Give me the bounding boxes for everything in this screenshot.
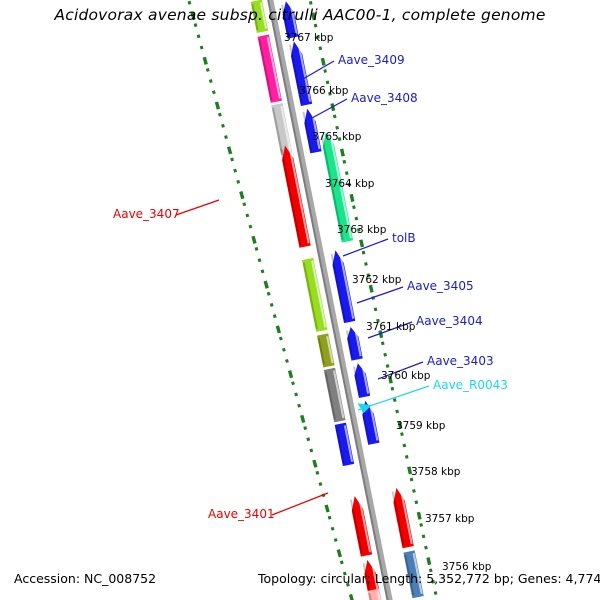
- scale-tick: [416, 501, 417, 504]
- scale-tick: [256, 247, 257, 250]
- scale-tick: [397, 410, 398, 413]
- ruler-tick-label: 3766 kbp: [299, 85, 348, 97]
- scale-tick: [404, 444, 405, 447]
- scale-tick: [223, 124, 224, 127]
- ruler-tick-label: 3760 kbp: [381, 370, 430, 382]
- scale-tick: [247, 214, 248, 217]
- scale-tick: [241, 192, 243, 199]
- genome-map-viewer: Acidovorax avenae subsp. citrulli AAC00-…: [0, 0, 600, 600]
- scale-tick: [229, 147, 231, 154]
- scale-tick: [327, 81, 328, 84]
- scale-tick: [210, 80, 211, 83]
- scale-tick: [326, 505, 328, 512]
- scale-tick: [366, 262, 367, 265]
- ruler-tick-label: 3759 kbp: [396, 420, 445, 432]
- scale-tick: [189, 1, 190, 4]
- ruler-tick-label: 3765 kbp: [312, 131, 361, 143]
- genome-summary-text: Topology: circular; Length: 5,352,772 bp…: [258, 571, 600, 586]
- scale-tick: [363, 251, 364, 254]
- scale-tick: [204, 57, 206, 64]
- scale-tick: [385, 353, 386, 356]
- scale-tick: [406, 455, 407, 458]
- scale-tick: [382, 342, 383, 345]
- scale-tick: [277, 326, 279, 333]
- scale-tick: [213, 91, 214, 94]
- scale-tick: [305, 427, 306, 430]
- scale-tick: [418, 512, 420, 519]
- scale-tick: [351, 594, 353, 600]
- scale-tick: [320, 483, 321, 486]
- scale-tick: [287, 359, 288, 362]
- ruler-tick-label: 3763 kbp: [337, 224, 386, 236]
- scale-tick: [253, 236, 255, 243]
- scale-tick: [265, 281, 267, 288]
- scale-tick: [284, 348, 285, 351]
- scale-tick: [217, 102, 219, 109]
- scale-tick: [320, 47, 321, 50]
- scale-tick: [423, 535, 424, 538]
- leader-line-Aave_3408: [312, 99, 347, 118]
- scale-tick: [244, 203, 245, 206]
- scale-tick: [290, 371, 292, 378]
- gene-g-l8[interactable]: [354, 363, 370, 398]
- ruler-tick-label: 3767 kbp: [284, 32, 333, 44]
- ruler-tick-label: 3758 kbp: [411, 466, 460, 478]
- scale-tick: [435, 592, 436, 595]
- scale-tick: [271, 303, 272, 306]
- scale-tick: [317, 471, 318, 474]
- gene-label-Aave_3404[interactable]: Aave_3404: [416, 314, 483, 328]
- gene-g-l7[interactable]: [347, 327, 363, 361]
- ruler-tick-label: 3757 kbp: [425, 513, 474, 525]
- scale-tick: [361, 240, 363, 247]
- scale-tick: [299, 404, 300, 407]
- scale-tick: [329, 516, 330, 519]
- scale-tick: [280, 337, 281, 340]
- gene-label-Aave_3409[interactable]: Aave_3409: [338, 53, 405, 67]
- scale-tick: [351, 194, 353, 201]
- scale-tick: [296, 393, 297, 396]
- gene-label-Aave_3407[interactable]: Aave_3407: [113, 207, 180, 221]
- ruler-tick-label: 3762 kbp: [352, 274, 401, 286]
- scale-tick: [201, 46, 202, 49]
- leader-line-Aave_3405: [357, 287, 403, 303]
- gene-label-Aave_3401[interactable]: Aave_3401: [208, 507, 275, 521]
- scale-tick: [402, 433, 403, 436]
- gene-g-l10[interactable]: [393, 488, 414, 548]
- scale-tick: [335, 539, 336, 542]
- scale-tick: [226, 136, 227, 139]
- scale-tick: [220, 113, 221, 116]
- scale-tick: [354, 206, 355, 209]
- ruler-tick-label: 3764 kbp: [325, 178, 374, 190]
- gene-label-tolB[interactable]: tolB: [392, 231, 416, 245]
- scale-tick: [334, 115, 335, 118]
- scale-tick: [293, 382, 294, 385]
- scale-tick: [268, 292, 269, 295]
- scale-tick: [207, 68, 208, 71]
- scale-tick: [411, 478, 412, 481]
- gene-label-Aave_3408[interactable]: Aave_3408: [351, 91, 418, 105]
- leader-line-Aave_3401: [272, 493, 328, 515]
- scale-tick: [238, 180, 239, 183]
- ruler-tick-label: 3761 kbp: [366, 321, 415, 333]
- scale-tick: [259, 259, 260, 262]
- accession-text: Accession: NC_008752: [14, 571, 156, 586]
- scale-tick: [344, 160, 345, 163]
- scale-tick: [342, 149, 344, 156]
- scale-tick: [370, 285, 372, 292]
- scale-tick: [332, 527, 333, 530]
- scale-tick: [262, 270, 263, 273]
- gene-track-left: [272, 0, 430, 600]
- scale-tick: [198, 35, 199, 38]
- scale-tick: [414, 489, 415, 492]
- leader-line-tolB: [343, 239, 388, 256]
- scale-tick: [428, 558, 430, 565]
- scale-tick: [250, 225, 251, 228]
- scale-tick: [356, 217, 357, 220]
- scale-tick: [341, 561, 342, 564]
- gene-label-Aave_3403[interactable]: Aave_3403: [427, 354, 494, 368]
- scale-tick: [195, 24, 196, 27]
- scale-tick: [338, 550, 340, 557]
- gene-label-Aave_R0043[interactable]: Aave_R0043: [433, 378, 508, 392]
- scale-tick: [337, 126, 338, 129]
- leader-line-Aave_3407: [176, 200, 219, 215]
- scale-tick: [302, 415, 304, 422]
- gene-g-r9[interactable]: [335, 423, 354, 466]
- scale-tick: [392, 387, 393, 390]
- scale-tick: [232, 158, 233, 161]
- scale-tick: [235, 169, 236, 172]
- scale-tick: [325, 69, 326, 72]
- scale-tick: [308, 438, 309, 441]
- scale-tick: [315, 24, 316, 27]
- scale-tick: [322, 58, 324, 65]
- scale-tick: [421, 523, 422, 526]
- gene-label-Aave_3405[interactable]: Aave_3405: [407, 279, 474, 293]
- label-leader-group: [176, 61, 429, 515]
- scale-tick: [346, 172, 347, 175]
- page-title: Acidovorax avenae subsp. citrulli AAC00-…: [0, 6, 600, 24]
- scale-tick: [274, 315, 275, 318]
- scale-tick: [314, 460, 316, 467]
- scale-tick: [426, 546, 427, 549]
- leader-line-Aave_3409: [303, 61, 334, 79]
- scale-tick: [394, 399, 395, 402]
- scale-tick: [310, 1, 311, 4]
- scale-tick: [387, 365, 388, 368]
- gene-g-r7[interactable]: [317, 333, 335, 367]
- scale-tick: [311, 449, 312, 452]
- scale-tick: [375, 308, 376, 311]
